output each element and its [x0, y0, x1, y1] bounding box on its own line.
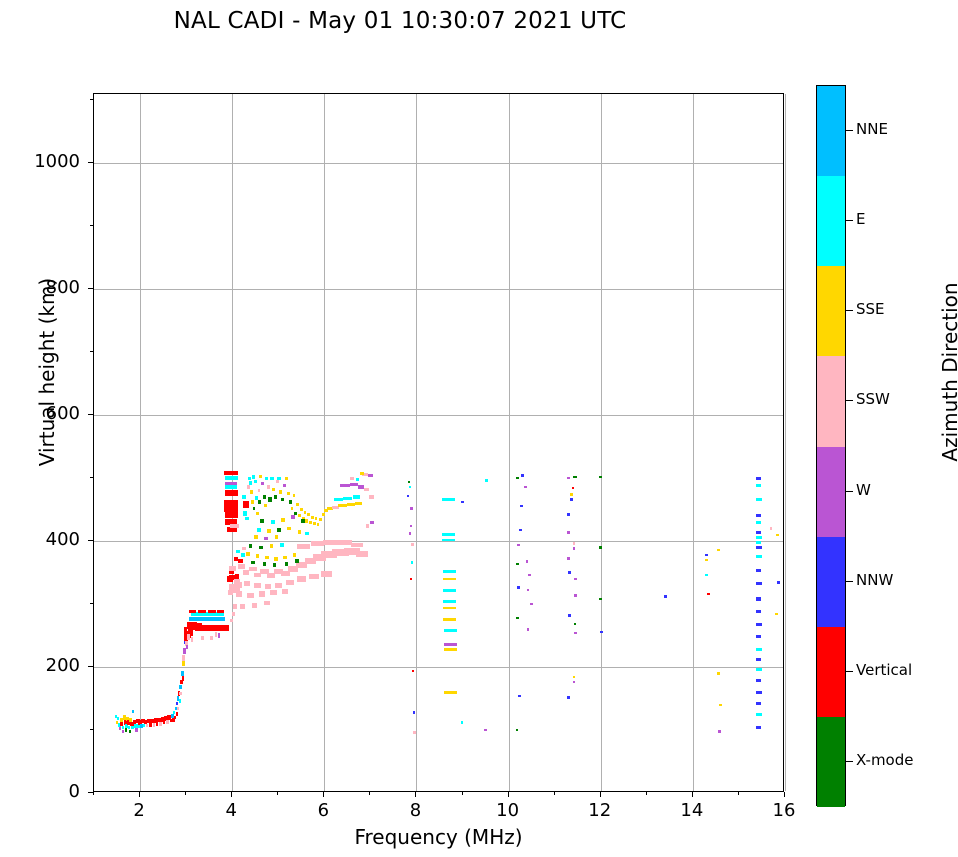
echo-point: [444, 629, 457, 632]
echo-point: [146, 724, 148, 727]
colorbar-label-nnw: NNW: [856, 571, 893, 589]
echo-point: [319, 518, 323, 521]
colorbar-band-ssw[interactable]: [817, 356, 845, 446]
echo-point: [574, 632, 577, 635]
echo-point: [443, 570, 456, 573]
echo-point: [129, 730, 131, 733]
echo-point: [264, 537, 268, 541]
echo-point: [317, 523, 320, 526]
colorbar-band-nnw[interactable]: [817, 537, 845, 627]
x-tick-minor: [277, 792, 278, 795]
echo-point: [301, 519, 305, 523]
colorbar-band-nne[interactable]: [817, 86, 845, 176]
echo-point: [516, 617, 519, 620]
y-tick-minor: [90, 99, 93, 100]
echo-point: [217, 610, 224, 613]
plot-area: [93, 93, 784, 792]
echo-point: [313, 522, 316, 525]
echo-point: [179, 692, 181, 696]
echo-point: [256, 554, 260, 558]
echo-point: [305, 519, 308, 522]
y-axis-title: Virtual height (km): [35, 222, 59, 522]
y-tick-label: 400: [0, 529, 80, 550]
echo-point: [369, 495, 374, 498]
echo-point: [236, 591, 242, 596]
echo-point: [263, 562, 267, 566]
echo-point: [407, 495, 409, 498]
y-tick-minor: [90, 603, 93, 604]
x-tick: [415, 792, 416, 797]
echo-point: [443, 578, 456, 581]
echo-point: [270, 544, 274, 548]
echo-point: [225, 512, 238, 518]
x-tick-minor: [554, 792, 555, 795]
echo-point: [249, 567, 256, 571]
echo-point: [321, 571, 332, 577]
echo-point: [756, 514, 762, 517]
echo-point: [355, 502, 361, 505]
echo-point: [776, 534, 780, 537]
echo-point: [756, 531, 762, 534]
echo-point: [225, 476, 238, 480]
echo-point: [521, 474, 524, 477]
y-tick: [88, 666, 93, 667]
echo-point: [527, 628, 530, 631]
echo-point: [280, 543, 284, 547]
y-tick: [88, 792, 93, 793]
x-tick-label: 14: [662, 800, 722, 821]
x-tick-label: 2: [109, 800, 169, 821]
echo-point: [217, 617, 225, 621]
colorbar-tick: [846, 671, 853, 672]
echo-point: [234, 579, 240, 584]
echo-point: [567, 531, 570, 534]
echo-point: [263, 495, 266, 499]
colorbar-label-e: E: [856, 210, 865, 228]
echo-point: [245, 517, 249, 521]
echo-point: [777, 581, 780, 584]
echo-point: [224, 471, 238, 475]
echo-point: [527, 589, 530, 592]
colorbar[interactable]: [816, 85, 846, 806]
echo-point: [756, 648, 762, 651]
echo-point: [254, 573, 260, 577]
echo-point: [234, 557, 239, 561]
echo-point: [350, 477, 354, 480]
echo-point: [228, 590, 233, 595]
echo-point: [132, 710, 134, 713]
x-tick: [508, 792, 509, 797]
echo-point: [599, 476, 602, 479]
echo-point: [413, 711, 415, 714]
echo-point: [573, 547, 576, 550]
echo-point: [567, 557, 570, 560]
echo-point: [461, 501, 463, 504]
echo-point: [117, 717, 119, 720]
echo-point: [517, 586, 520, 589]
echo-point: [756, 477, 762, 480]
echo-point: [334, 498, 343, 501]
colorbar-band-x-mode[interactable]: [817, 717, 845, 807]
echo-point: [444, 643, 457, 646]
echo-point: [149, 723, 152, 727]
echo-point: [366, 524, 370, 527]
echo-point: [249, 544, 253, 548]
echo-point: [461, 721, 463, 724]
y-tick: [88, 540, 93, 541]
colorbar-tick: [846, 130, 853, 131]
echo-point: [717, 672, 720, 675]
echo-point: [254, 480, 257, 483]
echo-point: [246, 552, 250, 556]
echo-point: [257, 528, 261, 532]
echo-point: [756, 546, 762, 549]
echo-point: [230, 619, 233, 623]
echo-point: [756, 536, 762, 539]
echo-point: [573, 476, 576, 479]
echo-point: [756, 635, 762, 638]
echo-point: [410, 578, 412, 581]
echo-point: [218, 633, 220, 637]
echo-point: [411, 561, 413, 564]
echo-point: [705, 559, 708, 562]
echo-point: [519, 529, 522, 532]
echo-point: [247, 485, 250, 488]
echo-point: [255, 496, 258, 500]
echo-point: [570, 493, 573, 496]
echo-point: [208, 610, 216, 613]
colorbar-band-vertical[interactable]: [817, 627, 845, 717]
echo-point: [770, 527, 772, 530]
y-tick: [88, 162, 93, 163]
x-tick-minor: [185, 792, 186, 795]
echo-point: [265, 584, 271, 589]
echo-point: [283, 484, 286, 487]
echo-point: [567, 696, 570, 699]
echo-point: [285, 562, 289, 566]
echo-point: [707, 593, 710, 596]
echo-point: [238, 559, 243, 563]
echo-point: [350, 483, 358, 486]
echo-point: [570, 498, 573, 501]
echo-point: [281, 518, 285, 522]
x-tick-label: 8: [385, 800, 445, 821]
echo-point: [238, 564, 245, 569]
echo-point: [443, 607, 456, 610]
gridline-vertical: [785, 94, 786, 791]
echo-point: [270, 477, 274, 480]
echo-point: [300, 508, 303, 511]
echo-point: [265, 477, 268, 480]
echo-point: [186, 645, 188, 649]
echo-point: [356, 478, 360, 481]
echo-point: [274, 557, 278, 561]
echo-point: [235, 574, 240, 578]
echo-point: [182, 676, 184, 680]
echo-point: [270, 590, 276, 595]
echo-point: [442, 539, 455, 542]
echo-point: [243, 570, 249, 574]
echo-point: [413, 731, 415, 734]
echo-point: [442, 498, 455, 501]
echo-point: [156, 722, 159, 726]
echo-point: [264, 601, 270, 605]
echo-point: [135, 728, 137, 731]
echo-point: [756, 668, 762, 671]
echo-point: [718, 730, 721, 733]
echo-point: [705, 554, 708, 557]
echo-point: [243, 511, 248, 515]
echo-point: [443, 618, 456, 621]
y-tick-minor: [90, 729, 93, 730]
x-tick: [323, 792, 324, 797]
echo-point: [251, 561, 255, 565]
x-tick-label: 10: [478, 800, 538, 821]
echo-point: [224, 500, 238, 511]
echo-point: [275, 583, 282, 588]
echo-point: [210, 636, 213, 640]
colorbar-band-w[interactable]: [817, 447, 845, 537]
x-tick-minor: [93, 792, 94, 795]
y-tick-label: 0: [0, 781, 80, 802]
x-tick: [139, 792, 140, 797]
echo-point: [256, 512, 259, 515]
echo-point: [297, 544, 310, 549]
echo-point: [283, 556, 287, 560]
echo-point: [296, 503, 299, 506]
colorbar-tick: [846, 310, 853, 311]
echo-point: [756, 610, 762, 613]
echo-point: [252, 475, 256, 479]
echo-point: [356, 551, 368, 557]
echo-point: [756, 541, 762, 544]
echo-point: [411, 543, 414, 546]
echo-point: [242, 547, 246, 550]
echo-point: [664, 595, 667, 598]
colorbar-band-sse[interactable]: [817, 266, 845, 356]
echo-point: [265, 556, 269, 560]
echo-point: [247, 593, 253, 598]
echo-point: [368, 474, 374, 477]
echo-point: [267, 485, 270, 488]
echo-point: [244, 581, 250, 586]
echo-point: [232, 612, 235, 616]
x-tick-label: 12: [570, 800, 630, 821]
echo-point: [191, 637, 193, 641]
echo-point: [182, 660, 185, 666]
echo-point: [485, 479, 487, 482]
echo-point: [250, 490, 253, 493]
echo-point: [293, 553, 297, 557]
echo-point: [163, 721, 166, 725]
echo-point: [277, 477, 281, 480]
colorbar-label-x-mode: X-mode: [856, 751, 913, 769]
echo-point: [573, 681, 576, 684]
echo-point: [267, 529, 271, 533]
y-tick-minor: [90, 225, 93, 226]
colorbar-band-e[interactable]: [817, 176, 845, 266]
colorbar-tick: [846, 400, 853, 401]
echo-point: [241, 553, 245, 556]
echo-point: [230, 524, 238, 528]
colorbar-title: Azimuth Direction: [938, 222, 958, 522]
echo-point: [756, 521, 762, 524]
echo-point: [279, 490, 282, 493]
y-tick: [88, 414, 93, 415]
echo-point: [225, 482, 237, 485]
echo-point: [484, 729, 486, 732]
echo-point: [182, 655, 185, 661]
colorbar-tick: [846, 220, 853, 221]
echo-point: [261, 482, 263, 485]
echo-point: [516, 477, 519, 480]
echo-point: [298, 530, 302, 534]
echo-point: [347, 503, 355, 506]
echo-point: [360, 472, 365, 475]
echo-point: [600, 631, 603, 634]
echo-point: [286, 580, 294, 585]
x-tick: [692, 792, 693, 797]
echo-point: [756, 691, 762, 694]
y-tick-label: 1000: [0, 151, 80, 172]
echo-point: [756, 484, 762, 487]
colorbar-label-nne: NNE: [856, 120, 888, 138]
echo-point: [574, 578, 577, 581]
echo-point: [260, 519, 264, 523]
echo-point: [122, 730, 124, 733]
x-tick-label: 6: [293, 800, 353, 821]
echo-point: [370, 521, 374, 524]
echo-point: [756, 498, 762, 501]
echo-point: [599, 546, 602, 549]
echo-point: [410, 525, 412, 528]
echo-point: [253, 507, 255, 510]
echo-point: [756, 713, 762, 716]
echo-point: [242, 495, 246, 499]
x-tick-label: 16: [754, 800, 814, 821]
echo-point: [275, 535, 279, 539]
echo-point: [277, 528, 281, 532]
echo-point: [254, 583, 260, 588]
echo-point: [217, 625, 229, 632]
echo-point: [285, 477, 288, 480]
echo-point: [189, 610, 196, 613]
echo-point: [291, 515, 295, 519]
y-tick: [88, 288, 93, 289]
echo-point: [179, 685, 181, 689]
echo-point: [524, 486, 527, 489]
echo-point: [252, 603, 258, 607]
echo-point: [442, 533, 455, 536]
echo-point: [268, 497, 272, 501]
echo-point: [179, 699, 181, 703]
echo-point: [343, 497, 352, 500]
echo-point: [756, 702, 762, 705]
echo-point: [177, 707, 179, 711]
data-points-layer: [94, 94, 783, 791]
echo-point: [599, 598, 602, 601]
y-tick-label: 200: [0, 655, 80, 676]
echo-point: [274, 495, 277, 499]
echo-point: [251, 500, 254, 503]
echo-point: [516, 563, 519, 566]
echo-point: [756, 555, 762, 558]
echo-point: [295, 559, 299, 563]
echo-point: [568, 571, 571, 574]
echo-point: [517, 544, 520, 547]
echo-point: [174, 716, 177, 720]
echo-point: [233, 604, 237, 608]
echo-point: [315, 517, 318, 520]
echo-point: [518, 695, 521, 698]
x-tick-minor: [738, 792, 739, 795]
echo-point: [444, 691, 457, 694]
echo-point: [249, 481, 253, 485]
x-axis-title: Frequency (MHz): [93, 825, 784, 849]
echo-point: [717, 549, 720, 552]
echo-point: [297, 576, 306, 582]
echo-point: [705, 574, 708, 577]
echo-point: [259, 546, 263, 550]
echo-point: [176, 712, 178, 716]
echo-point: [307, 513, 310, 516]
echo-point: [187, 634, 190, 640]
colorbar-tick: [846, 491, 853, 492]
echo-point: [567, 513, 570, 516]
x-tick: [600, 792, 601, 797]
colorbar-label-w: W: [856, 481, 871, 499]
echo-point: [201, 636, 204, 640]
x-tick-minor: [462, 792, 463, 795]
echo-point: [215, 632, 218, 637]
echo-point: [258, 500, 261, 504]
echo-point: [756, 569, 762, 572]
echo-point: [281, 498, 284, 502]
echo-point: [410, 507, 413, 510]
echo-point: [322, 513, 326, 516]
echo-point: [756, 623, 762, 626]
echo-point: [756, 582, 762, 585]
y-tick-minor: [90, 477, 93, 478]
echo-point: [756, 679, 762, 682]
echo-point: [225, 490, 238, 496]
echo-point: [443, 600, 456, 603]
colorbar-label-vertical: Vertical: [856, 661, 912, 679]
echo-point: [282, 589, 288, 594]
echo-point: [254, 535, 258, 539]
echo-point: [287, 527, 291, 531]
echo-point: [240, 604, 246, 608]
echo-point: [236, 550, 240, 553]
echo-point: [408, 481, 410, 484]
echo-point: [181, 671, 184, 676]
echo-point: [287, 492, 290, 495]
echo-point: [281, 571, 290, 576]
echo-point: [756, 597, 762, 600]
echo-point: [271, 520, 275, 524]
echo-point: [351, 543, 363, 547]
echo-point: [309, 574, 319, 580]
colorbar-tick: [846, 581, 853, 582]
echo-point: [298, 514, 301, 517]
echo-point: [259, 475, 262, 478]
echo-point: [364, 488, 369, 491]
y-tick-label: 600: [0, 403, 80, 424]
echo-point: [444, 648, 457, 651]
x-tick: [784, 792, 785, 797]
echo-point: [259, 591, 265, 596]
colorbar-label-ssw: SSW: [856, 390, 890, 408]
